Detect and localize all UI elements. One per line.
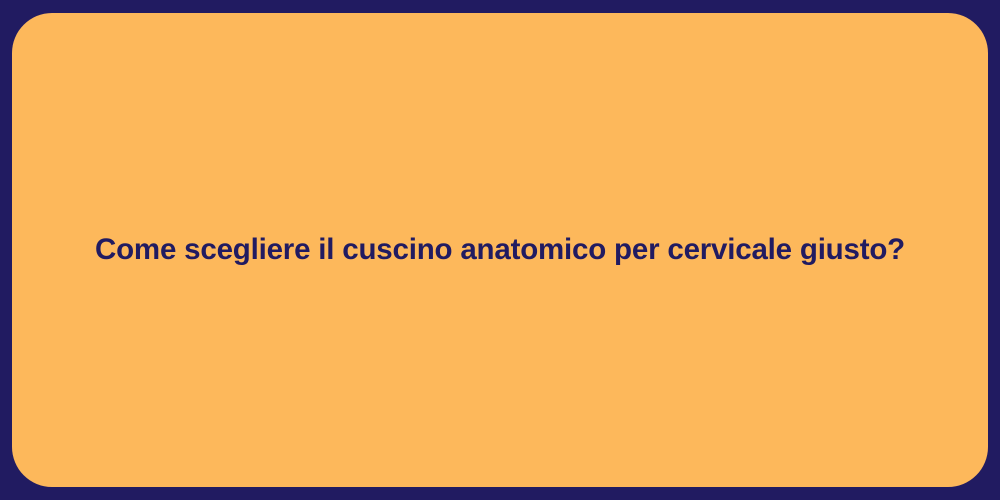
banner-frame: Come scegliere il cuscino anatomico per … — [0, 0, 1000, 500]
banner-card: Come scegliere il cuscino anatomico per … — [12, 13, 988, 487]
banner-heading: Come scegliere il cuscino anatomico per … — [12, 230, 988, 270]
